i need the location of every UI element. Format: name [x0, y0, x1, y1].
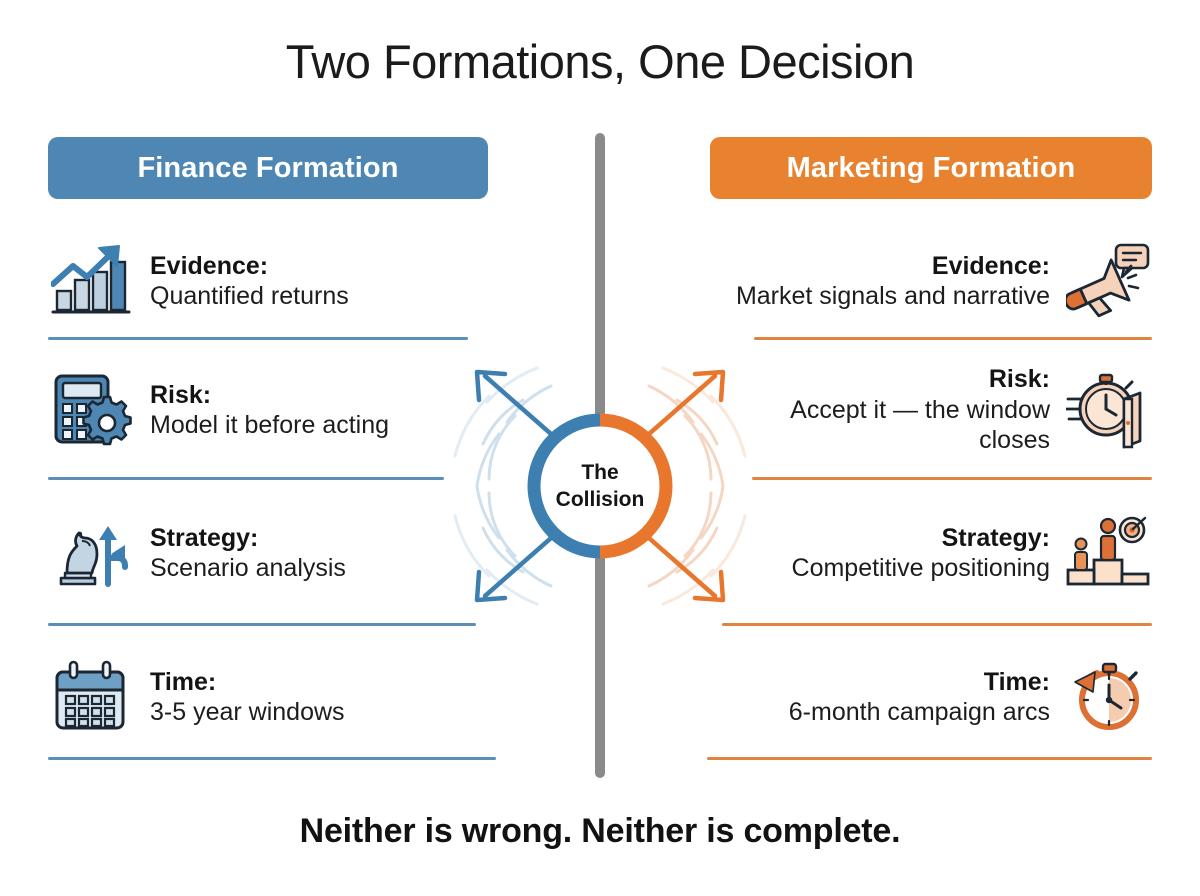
marketing-row-evidence-text: Evidence: Market signals and narrative — [736, 251, 1050, 312]
marketing-row-strategy-text: Strategy: Competitive positioning — [792, 523, 1050, 584]
finance-row-strategy-text: Strategy: Scenario analysis — [150, 523, 346, 584]
finance-row-evidence: Evidence: Quantified returns — [40, 222, 510, 340]
finance-row-evidence-text: Evidence: Quantified returns — [150, 251, 349, 312]
chess-knight-branching-arrows-icon — [48, 513, 136, 593]
podium-target-icon — [1064, 513, 1152, 593]
calculator-gear-icon — [48, 370, 136, 450]
finance-row-strategy-label: Strategy: — [150, 523, 346, 554]
finance-row-time-text: Time: 3-5 year windows — [150, 667, 345, 728]
finance-row-time-value: 3-5 year windows — [150, 697, 345, 728]
marketing-row-time-value: 6-month campaign arcs — [789, 697, 1050, 728]
marketing-row-evidence-value: Market signals and narrative — [736, 281, 1050, 312]
marketing-row-time: Time: 6-month campaign arcs — [690, 626, 1160, 768]
marketing-row-risk-label: Risk: — [750, 364, 1050, 395]
page-title: Two Formations, One Decision — [0, 34, 1200, 89]
growth-chart-icon — [48, 241, 136, 321]
finance-row-evidence-value: Quantified returns — [150, 281, 349, 312]
finance-separator-4 — [48, 757, 496, 760]
finance-row-evidence-label: Evidence: — [150, 251, 349, 282]
infographic-canvas: Two Formations, One Decision Finance For… — [0, 0, 1200, 896]
marketing-row-time-text: Time: 6-month campaign arcs — [789, 667, 1050, 728]
finance-row-risk-text: Risk: Model it before acting — [150, 380, 389, 441]
finance-row-time: Time: 3-5 year windows — [40, 626, 510, 768]
marketing-row-evidence: Evidence: Market signals and narrative — [690, 222, 1160, 340]
finance-row-risk-label: Risk: — [150, 380, 389, 411]
marketing-row-evidence-label: Evidence: — [736, 251, 1050, 282]
collision-graphic: The Collision — [437, 338, 763, 634]
finance-row-risk-value: Model it before acting — [150, 410, 389, 441]
stopwatch-arrow-icon — [1064, 657, 1152, 737]
clock-door-icon — [1064, 370, 1152, 450]
marketing-row-time-label: Time: — [789, 667, 1050, 698]
footer-tagline: Neither is wrong. Neither is complete. — [0, 812, 1200, 851]
marketing-row-strategy-value: Competitive positioning — [792, 553, 1050, 584]
megaphone-speech-bubble-icon — [1064, 241, 1152, 321]
marketing-row-strategy-label: Strategy: — [792, 523, 1050, 554]
marketing-row-risk-value: Accept it — the window closes — [750, 395, 1050, 456]
marketing-formation-header: Marketing Formation — [710, 137, 1152, 199]
finance-formation-header: Finance Formation — [48, 137, 488, 199]
marketing-separator-4 — [707, 757, 1152, 760]
marketing-formation-header-label: Marketing Formation — [787, 152, 1076, 185]
finance-formation-header-label: Finance Formation — [137, 152, 398, 185]
calendar-icon — [48, 657, 136, 737]
finance-row-time-label: Time: — [150, 667, 345, 698]
finance-row-strategy-value: Scenario analysis — [150, 553, 346, 584]
marketing-row-risk-text: Risk: Accept it — the window closes — [750, 364, 1050, 456]
